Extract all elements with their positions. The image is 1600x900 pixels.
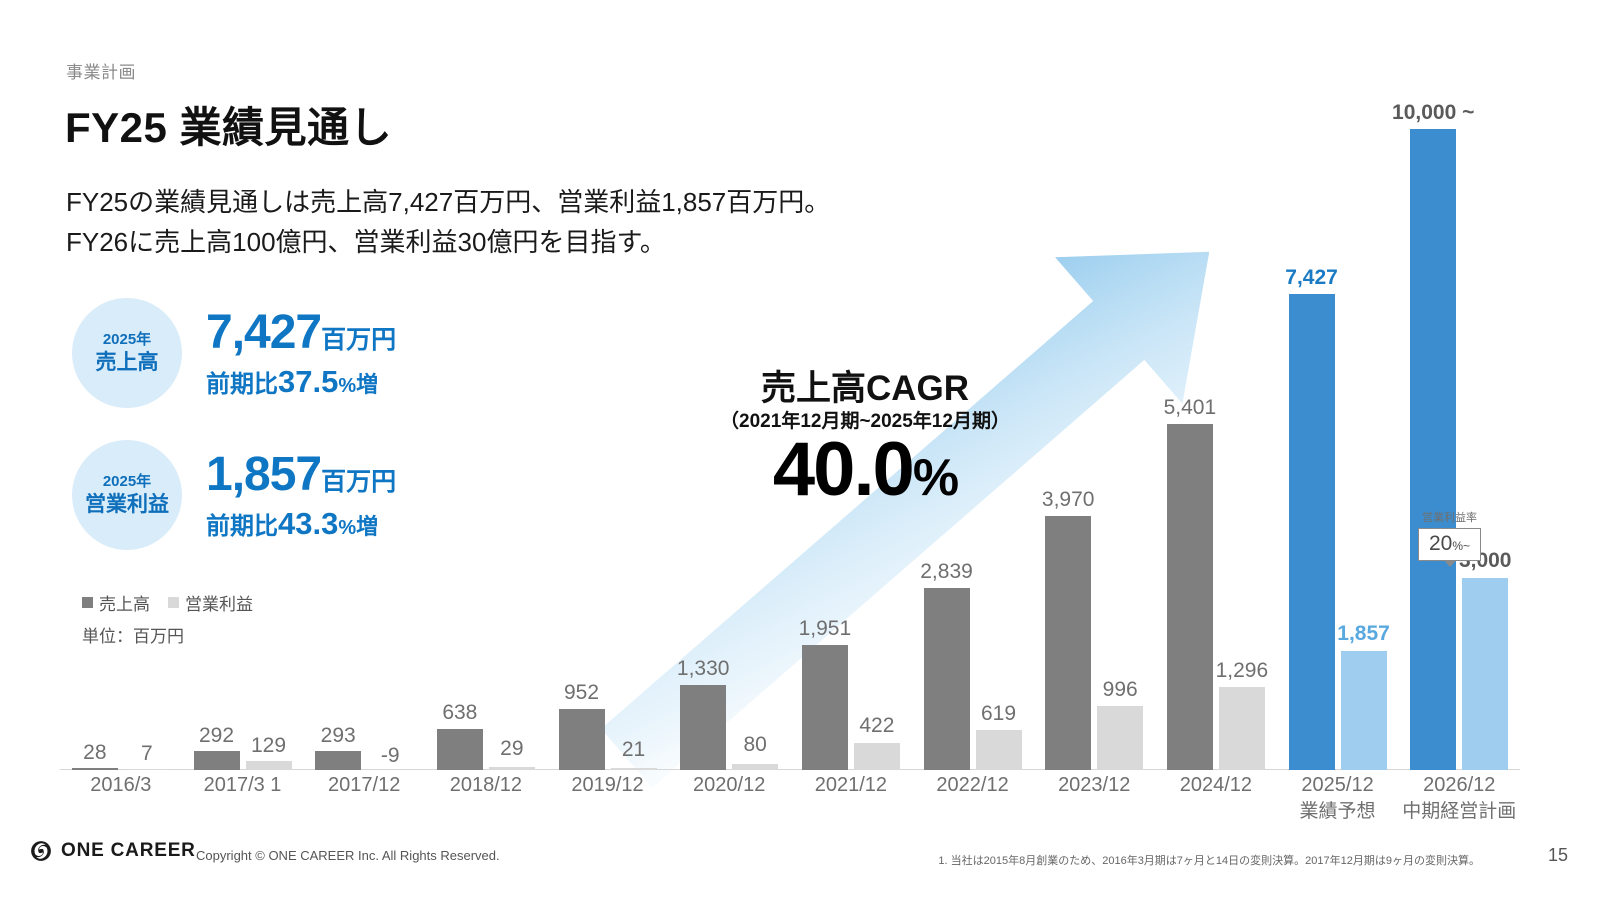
copyright-text: Copyright © ONE CAREER Inc. All Rights R… <box>196 848 500 863</box>
bar-label-operating: 129 <box>251 734 286 758</box>
eyebrow-label: 事業計画 <box>66 58 136 83</box>
callout-pointer-icon <box>1444 560 1456 567</box>
bar-label-revenue: 28 <box>83 741 106 765</box>
brand-logo: ONE CAREER <box>30 840 196 862</box>
bar-group-2019-12: 952 21 <box>547 178 669 770</box>
x-label-2016-3: 2016/3 <box>60 772 182 825</box>
bar-group-2024-12: 5,401 1,296 <box>1155 178 1277 770</box>
bar-label-revenue: 1,330 <box>677 657 730 681</box>
operating-margin-percent: % <box>1452 539 1463 553</box>
bar-group-2018-12: 638 29 <box>425 178 547 770</box>
x-label-2021-12: 2021/12 <box>790 772 912 825</box>
x-label-2026-12: 2026/12 中期経営計画 <box>1398 772 1520 825</box>
operating-margin-tilde: ~ <box>1463 539 1470 553</box>
bar-label-revenue: 293 <box>321 724 356 748</box>
page-title: FY25 業績見通し <box>65 94 392 155</box>
bar-group-2017-3: 292 129 <box>182 178 304 770</box>
bar-group-2026-12-plan: 10,000 ~ 3,000 <box>1398 178 1520 770</box>
bar-label-revenue: 292 <box>199 724 234 748</box>
slide-root: 事業計画 FY25 業績見通し FY25の業績見通しは売上高7,427百万円、営… <box>0 0 1600 900</box>
performance-bar-chart: 28 7 292 129 293 -9 638 29 952 21 1,330 <box>60 170 1560 770</box>
x-label-2025-12-main: 2025/12 <box>1301 774 1373 796</box>
bar-label-operating: 29 <box>500 737 523 761</box>
bar-label-revenue: 952 <box>564 681 599 705</box>
bar-group-2017-12: 293 -9 <box>303 178 425 770</box>
x-label-2024-12: 2024/12 <box>1155 772 1277 825</box>
bar-label-revenue: 638 <box>442 701 477 725</box>
x-label-2017-3: 2017/3 1 <box>182 772 304 825</box>
bar-label-operating: 80 <box>744 733 767 757</box>
chart-bar-groups: 28 7 292 129 293 -9 638 29 952 21 1,330 <box>60 178 1520 770</box>
operating-margin-box: 20%~ <box>1418 528 1481 561</box>
x-label-2025-12: 2025/12 業績予想 <box>1277 772 1399 825</box>
bar-label-revenue: 7,427 <box>1285 266 1338 290</box>
bar-label-revenue: 2,839 <box>920 560 973 584</box>
bar-label-operating: -9 <box>381 744 400 768</box>
brand-logo-text: ONE CAREER <box>61 840 196 862</box>
bar-label-operating: 7 <box>141 742 153 766</box>
x-label-2026-12-main: 2026/12 <box>1423 774 1495 796</box>
x-label-2018-12: 2018/12 <box>425 772 547 825</box>
operating-margin-callout: 営業利益率 20%~ <box>1418 509 1481 561</box>
bar-group-2016-3: 28 7 <box>60 178 182 770</box>
operating-margin-caption: 営業利益率 <box>1418 509 1481 525</box>
footnote-text: 1. 当社は2015年8月創業のため、2016年3月期は7ヶ月と14日の変則決算… <box>938 852 1480 868</box>
bar-group-2023-12: 3,970 996 <box>1033 178 1155 770</box>
bar-label-revenue: 5,401 <box>1164 396 1217 420</box>
x-label-2023-12: 2023/12 <box>1033 772 1155 825</box>
bar-label-revenue: 10,000 ~ <box>1392 101 1474 125</box>
bar-group-2025-12-forecast: 7,427 1,857 <box>1277 178 1399 770</box>
bar-label-operating: 1,857 <box>1337 622 1390 646</box>
bar-group-2022-12: 2,839 619 <box>912 178 1034 770</box>
one-career-swirl-icon <box>30 840 52 862</box>
bar-group-2020-12: 1,330 80 <box>668 178 790 770</box>
bar-label-operating: 21 <box>622 738 645 762</box>
bar-label-operating: 619 <box>981 702 1016 726</box>
page-number: 15 <box>1548 845 1568 866</box>
x-label-2019-12: 2019/12 <box>547 772 669 825</box>
bar-group-2021-12: 1,951 422 <box>790 178 912 770</box>
bar-label-revenue: 1,951 <box>799 617 852 641</box>
x-label-2020-12: 2020/12 <box>668 772 790 825</box>
x-label-2017-12: 2017/12 <box>303 772 425 825</box>
x-label-2026-12-sub: 中期経営計画 <box>1398 799 1520 825</box>
bar-label-revenue: 3,970 <box>1042 488 1095 512</box>
x-label-2025-12-sub: 業績予想 <box>1277 799 1399 825</box>
operating-margin-value: 20 <box>1429 532 1452 555</box>
bar-label-operating: 996 <box>1103 678 1138 702</box>
bar-label-operating: 422 <box>859 714 894 738</box>
chart-x-axis-labels: 2016/3 2017/3 1 2017/12 2018/12 2019/12 … <box>60 772 1520 825</box>
x-label-2022-12: 2022/12 <box>912 772 1034 825</box>
bar-label-operating: 1,296 <box>1216 659 1269 683</box>
